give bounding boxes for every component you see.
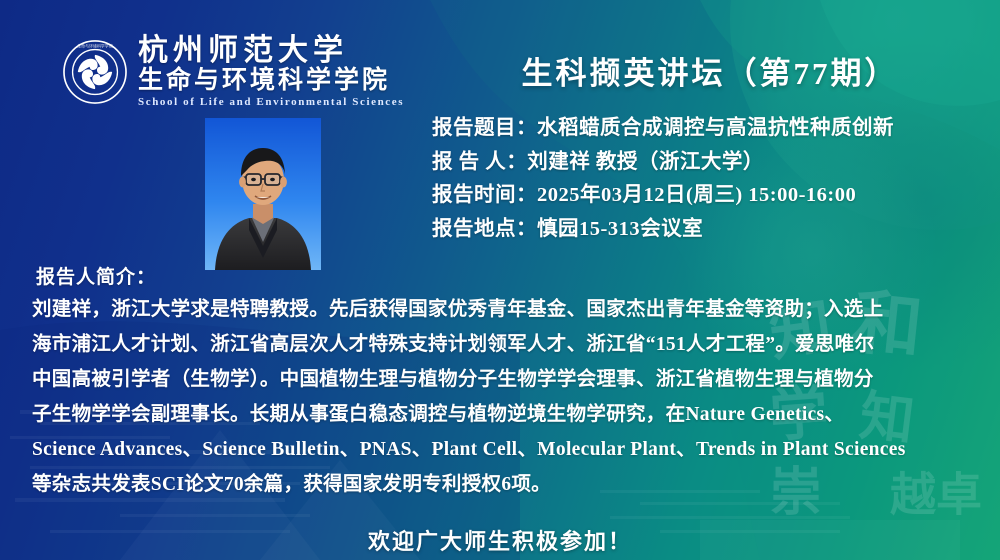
detail-row-speaker: 报 告 人： 刘建祥 教授（浙江大学）	[432, 152, 992, 173]
detail-value-topic: 水稻蜡质合成调控与高温抗性种质创新	[537, 118, 894, 139]
bio-line: 等杂志共发表SCI论文70余篇，获得国家发明专利授权6项。	[32, 467, 977, 502]
detail-row-time: 报告时间： 2025年03月12日(周三) 15:00-16:00	[432, 185, 992, 206]
footer-note: 欢迎广大师生积极参加！	[0, 524, 1000, 556]
school-name-en: School of Life and Environmental Science…	[138, 96, 404, 108]
seminar-details: 报告题目： 水稻蜡质合成调控与高温抗性种质创新 报 告 人： 刘建祥 教授（浙江…	[432, 118, 992, 252]
bio-line: 中国高被引学者（生物学）。中国植物生理与植物分子生物学学会理事、浙江省植物生理与…	[32, 362, 977, 397]
detail-row-topic: 报告题目： 水稻蜡质合成调控与高温抗性种质创新	[432, 118, 992, 139]
detail-label-speaker: 报 告 人：	[432, 152, 527, 173]
bio-line: 子生物学学会副理事长。长期从事蛋白稳态调控与植物逆境生物学研究，在Nature …	[32, 397, 977, 432]
detail-value-venue: 慎园15-313会议室	[537, 219, 703, 240]
bio-body: 刘建祥，浙江大学求是特聘教授。先后获得国家优秀青年基金、国家杰出青年基金等资助；…	[32, 292, 977, 502]
university-emblem-icon: ·生命与环境科学学院·	[62, 39, 128, 105]
bio-heading: 报告人简介：	[36, 262, 156, 289]
school-name-cn-line1: 杭州师范大学	[138, 36, 404, 67]
detail-value-speaker: 刘建祥 教授（浙江大学）	[527, 152, 764, 173]
school-name-cn-line2: 生命与环境科学学院	[138, 67, 404, 94]
page-title: 生科撷英讲坛（第77期）	[430, 48, 990, 93]
school-branding: ·生命与环境科学学院· 杭州师范大学 生命与环境科学学院 School of L…	[62, 36, 404, 108]
detail-row-venue: 报告地点： 慎园15-313会议室	[432, 219, 992, 240]
detail-label-time: 报告时间：	[432, 185, 537, 206]
bio-line: Science Advances、Science Bulletin、PNAS、P…	[32, 432, 977, 467]
svg-text:·生命与环境科学学院·: ·生命与环境科学学院·	[76, 43, 114, 48]
bio-line: 刘建祥，浙江大学求是特聘教授。先后获得国家优秀青年基金、国家杰出青年基金等资助；…	[32, 292, 977, 327]
detail-label-topic: 报告题目：	[432, 118, 537, 139]
speaker-portrait	[205, 118, 321, 270]
detail-label-venue: 报告地点：	[432, 219, 537, 240]
detail-value-time: 2025年03月12日(周三) 15:00-16:00	[537, 185, 856, 206]
seminar-poster: 知 和 学 知 崇 卓越 ·生命与环境科学学院· 杭州师范大学 生命与环境科学学…	[0, 0, 1000, 560]
bio-line: 海市浦江人才计划、浙江省高层次人才特殊支持计划领军人才、浙江省“151人才工程”…	[32, 327, 977, 362]
school-name-block: 杭州师范大学 生命与环境科学学院 School of Life and Envi…	[138, 36, 404, 108]
